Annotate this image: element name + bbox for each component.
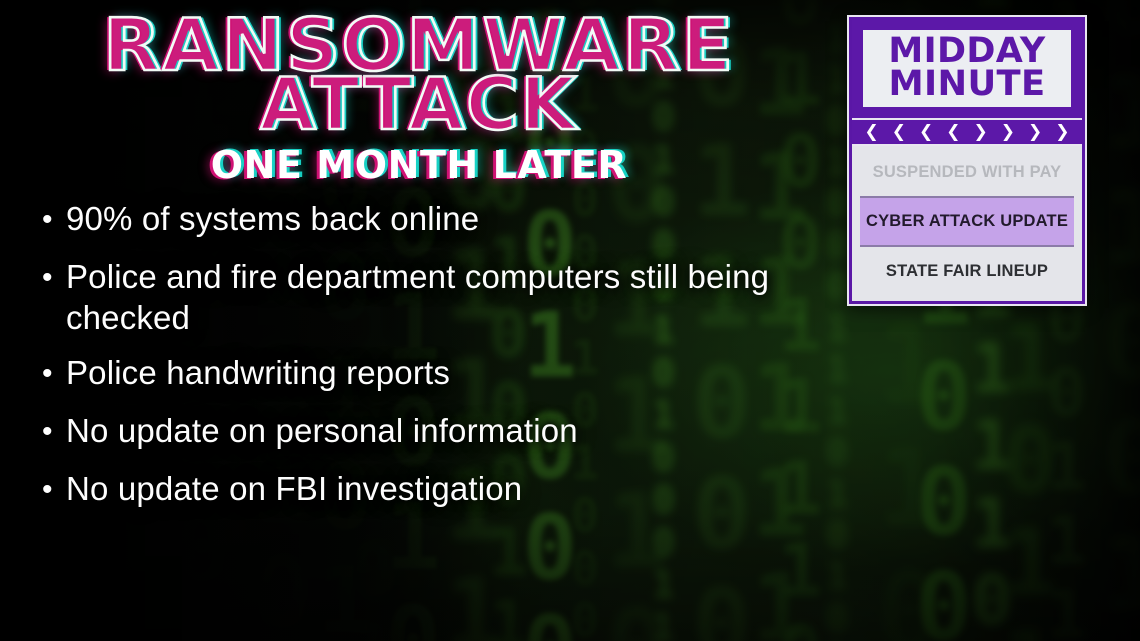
list-item: • No update on personal information: [42, 410, 832, 454]
chevron-right-icon: ❯: [1001, 124, 1015, 141]
list-item-text: No update on FBI investigation: [66, 468, 832, 509]
list-item-text: Police handwriting reports: [66, 352, 832, 393]
chevron-right-icon: ❯: [974, 124, 988, 141]
list-item-text: No update on personal information: [66, 410, 832, 451]
list-item: • No update on FBI investigation: [42, 468, 832, 512]
list-item-text: Police and fire department computers sti…: [66, 256, 832, 338]
matrix-column: 0 1 1 0 0 1 1: [1103, 0, 1140, 641]
chevron-divider-strip: ❮❮❮❮❯❯❯❯: [852, 118, 1082, 146]
panel-logo: MIDDAY MINUTE: [852, 20, 1082, 118]
rundown-item-current[interactable]: CYBER ATTACK UPDATE: [860, 196, 1074, 247]
chevron-left-icon: ❮: [946, 124, 960, 141]
chevron-left-icon: ❮: [919, 124, 933, 141]
list-item: • Police and fire department computers s…: [42, 256, 832, 338]
chevron-left-icon: ❮: [865, 124, 879, 141]
matrix-column: 0 1 0 0 1 1 1 0 1 1 1 1 0 1 1 0 1 1 0: [0, 0, 17, 641]
logo-line-1: MIDDAY: [867, 35, 1067, 67]
chevron-left-icon: ❮: [892, 124, 906, 141]
chevron-right-icon: ❯: [1055, 124, 1069, 141]
rundown-item-previous[interactable]: SUSPENDED WITH PAY: [860, 146, 1074, 196]
list-item: • 90% of systems back online: [42, 198, 832, 242]
list-item: • Police handwriting reports: [42, 352, 832, 396]
bullet-marker-icon: •: [42, 256, 66, 300]
rundown-item-next[interactable]: STATE FAIR LINEUP: [860, 247, 1074, 297]
panel-logo-box: MIDDAY MINUTE: [860, 27, 1074, 110]
bullet-marker-icon: •: [42, 352, 66, 396]
bullet-marker-icon: •: [42, 468, 66, 512]
list-item-text: 90% of systems back online: [66, 198, 832, 239]
bullet-marker-icon: •: [42, 198, 66, 242]
logo-line-2: MINUTE: [866, 68, 1068, 100]
bullet-list: • 90% of systems back online • Police an…: [42, 198, 832, 526]
chevron-right-icon: ❯: [1028, 124, 1042, 141]
bullet-marker-icon: •: [42, 410, 66, 454]
midday-minute-panel: MIDDAY MINUTE ❮❮❮❮❯❯❯❯ SUSPENDED WITH PA…: [849, 17, 1085, 304]
rundown-list: SUSPENDED WITH PAY CYBER ATTACK UPDATE S…: [852, 146, 1082, 301]
broadcast-graphic: 0 1 0 0 1 1 1 0 1 1 1 1 0 1 1 0 1 1 0 1 …: [0, 0, 1140, 641]
